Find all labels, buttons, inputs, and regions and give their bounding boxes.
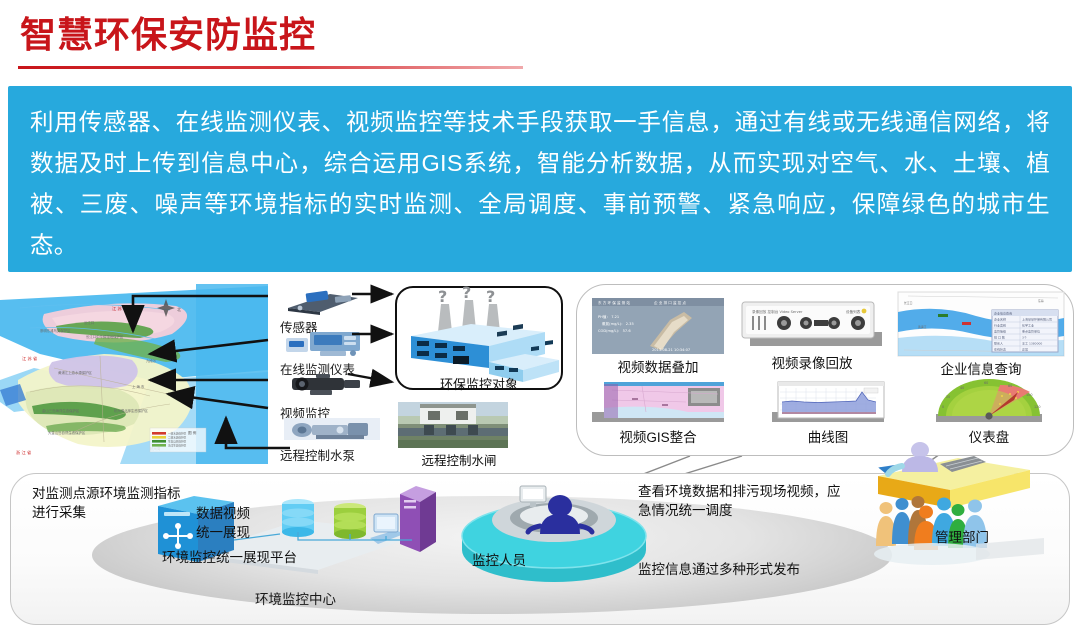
view-label: 视频录像回放 [742, 352, 882, 372]
region-map: 江 苏 省 江 苏 省 浙 江 省 崇明东滩鸟类保护区 长江口 长江口中华鲟湿地… [0, 284, 268, 464]
note-publish: 监控信息通过多种形式发布 [638, 560, 868, 579]
data-video-label: 数据视频 统一展现 [196, 504, 250, 542]
svg-text:长江口: 长江口 [84, 320, 94, 325]
svg-text:长江口: 长江口 [904, 301, 913, 305]
svg-text:生态自然保护区: 生态自然保护区 [168, 439, 187, 443]
note-view: 查看环境数据和排污现场视频，应急情况统一调度 [638, 482, 853, 520]
view-video-overlay[interactable]: 东 方 环 保 监 测 站 企 业 排 口 监 控 点 PH值： 7.21 氨氮… [592, 298, 724, 376]
department-label: 管理部门 [935, 526, 989, 546]
svg-text:120: 120 [1034, 405, 1040, 409]
svg-text:60: 60 [984, 381, 988, 385]
svg-text:重点监管单位: 重点监管单位 [1022, 329, 1040, 334]
svg-text:40: 40 [960, 386, 964, 390]
sensor-icon [280, 286, 388, 316]
svg-text:九段沙: 九段沙 [146, 358, 157, 363]
svg-text:排 口 数: 排 口 数 [994, 335, 1005, 340]
view-label: 视频GIS整合 [592, 426, 724, 446]
svg-text:联系人: 联系人 [994, 341, 1003, 346]
svg-text:2013-08-21 10:34:07: 2013-08-21 10:34:07 [652, 348, 690, 352]
svg-text:0: 0 [942, 405, 944, 409]
device-remote-pump: 远程控制水泵 [280, 414, 388, 464]
sluice-photo [398, 402, 508, 448]
device-online-meter: 在线监测仪表 [280, 328, 388, 378]
video-overlay-thumb: 东 方 环 保 监 测 站 企 业 排 口 监 控 点 PH值： 7.21 氨氮… [592, 298, 724, 354]
svg-text:100: 100 [1026, 393, 1032, 397]
sluice-label: 远程控制水闸 [395, 450, 523, 469]
curve-chart-thumb [772, 382, 884, 424]
svg-text:企业名称: 企业名称 [994, 317, 1006, 322]
svg-text:?: ? [462, 283, 471, 302]
svg-text:?: ? [486, 287, 495, 306]
factory-label: 环保监控对象 [395, 374, 563, 393]
gauge-thumb: 02040 6080100 120 [922, 376, 1056, 424]
svg-text:?: ? [438, 287, 447, 306]
device-label: 远程控制水泵 [280, 445, 388, 464]
svg-text:监管等级: 监管等级 [994, 329, 1006, 334]
data-video-line-2: 统一展现 [196, 523, 250, 542]
description-banner: 利用传感器、在线监测仪表、视频监控等技术手段获取一手信息，通过有线或无线通信网络… [8, 86, 1072, 272]
video-playback-thumb: 录像回放 控制台 Video Server 设备列表 [742, 302, 882, 350]
svg-text:海洋生态保护区: 海洋生态保护区 [168, 443, 187, 447]
view-label: 视频数据叠加 [592, 356, 724, 376]
svg-text:王工 1380000: 王工 1380000 [1022, 342, 1042, 346]
view-label: 曲线图 [772, 426, 884, 446]
title-underline [18, 66, 523, 69]
online-meter-icon [280, 328, 388, 358]
svg-text:金山三岛海洋生态保护区: 金山三岛海洋生态保护区 [42, 408, 80, 413]
diagram-area: 江 苏 省 江 苏 省 浙 江 省 崇明东滩鸟类保护区 长江口 长江口中华鲟湿地… [0, 278, 1080, 632]
view-gauge[interactable]: 02040 6080100 120 仪表盘 [922, 376, 1056, 446]
svg-text:在线状态: 在线状态 [994, 347, 1006, 352]
view-enterprise-query[interactable]: 企业信息查询 企业名称上海某某环保有限公司 行业类别化学工业 监管等级重点监管单… [898, 292, 1064, 378]
enterprise-query-thumb: 企业信息查询 企业名称上海某某环保有限公司 行业类别化学工业 监管等级重点监管单… [898, 292, 1064, 356]
svg-text:北: 北 [177, 306, 181, 312]
svg-text:崇明东滩鸟类保护区: 崇明东滩鸟类保护区 [40, 328, 71, 333]
description-paragraph: 利用传感器、在线监测仪表、视频监控等技术手段获取一手信息，通过有线或无线通信网络… [30, 102, 1050, 266]
platform-label: 环境监控统一展现平台 [162, 546, 297, 566]
svg-text:长江口中华鲟湿地保护区: 长江口中华鲟湿地保护区 [86, 334, 124, 339]
view-curve-chart[interactable]: 曲线图 [772, 382, 884, 446]
svg-text:东 方 环 保 监 测 站: 东 方 环 保 监 测 站 [598, 300, 630, 305]
slide-root: 智慧环保安防监控 利用传感器、在线监测仪表、视频监控等技术手段获取一手信息，通过… [0, 0, 1080, 632]
svg-text:企业信息查询: 企业信息查询 [994, 311, 1012, 316]
svg-text:东海: 东海 [1038, 299, 1044, 303]
svg-text:企 业 排 口 监 控 点: 企 业 排 口 监 控 点 [654, 300, 686, 305]
operator-label: 监控人员 [472, 549, 526, 569]
svg-text:杭州湾北岸生态保护区: 杭州湾北岸生态保护区 [114, 408, 149, 413]
svg-text:上海某某环保有限公司: 上海某某环保有限公司 [1022, 317, 1052, 322]
svg-text:氨氮(mg/L)： 2.35: 氨氮(mg/L)： 2.35 [602, 321, 634, 326]
svg-text:80: 80 [1008, 384, 1012, 388]
svg-text:黄浦江上游水源保护区: 黄浦江上游水源保护区 [58, 370, 93, 375]
svg-text:一级水源保护区: 一级水源保护区 [168, 431, 187, 435]
monitoring-center-label: 环境监控中心 [255, 588, 336, 608]
svg-text:江 苏 省: 江 苏 省 [112, 305, 127, 312]
page-title: 智慧环保安防监控 [20, 14, 316, 55]
management-department [858, 446, 1058, 576]
view-video-gis[interactable]: 视频GIS整合 [592, 382, 724, 446]
video-camera-icon [280, 372, 388, 402]
svg-text:录像回放 控制台 Video Server: 录像回放 控制台 Video Server [752, 309, 803, 314]
svg-text:设备列表: 设备列表 [846, 309, 861, 314]
svg-text:浙 江 省: 浙 江 省 [16, 449, 31, 456]
svg-text:图 例: 图 例 [188, 430, 197, 435]
svg-text:上 海 市: 上 海 市 [132, 384, 145, 389]
svg-text:正常: 正常 [1022, 347, 1028, 352]
video-gis-thumb [592, 382, 724, 424]
svg-text:江 苏 省: 江 苏 省 [22, 355, 37, 362]
data-video-line-1: 数据视频 [196, 504, 250, 523]
view-label: 仪表盘 [922, 426, 1056, 446]
note-collect: 对监测点源环境监测指标进行采集 [32, 484, 182, 522]
svg-text:二级水源保护区: 二级水源保护区 [168, 435, 187, 439]
svg-text:大金山岛自然生态保护区: 大金山岛自然生态保护区 [48, 430, 86, 435]
svg-text:行业类别: 行业类别 [994, 323, 1006, 328]
svg-text:20: 20 [946, 395, 950, 399]
view-video-playback[interactable]: 录像回放 控制台 Video Server 设备列表 [742, 302, 882, 372]
svg-text:3个: 3个 [1022, 336, 1027, 340]
remote-pump-icon [280, 414, 388, 444]
svg-text:COD(mg/L)： 57.6: COD(mg/L)： 57.6 [598, 329, 631, 333]
svg-text:PH值： 7.21: PH值： 7.21 [598, 314, 619, 319]
device-column: 传感器 在线监测仪表 [268, 286, 398, 462]
svg-text:化学工业: 化学工业 [1022, 323, 1034, 328]
view-label: 企业信息查询 [898, 358, 1064, 378]
svg-text:黄浦江: 黄浦江 [918, 325, 927, 329]
